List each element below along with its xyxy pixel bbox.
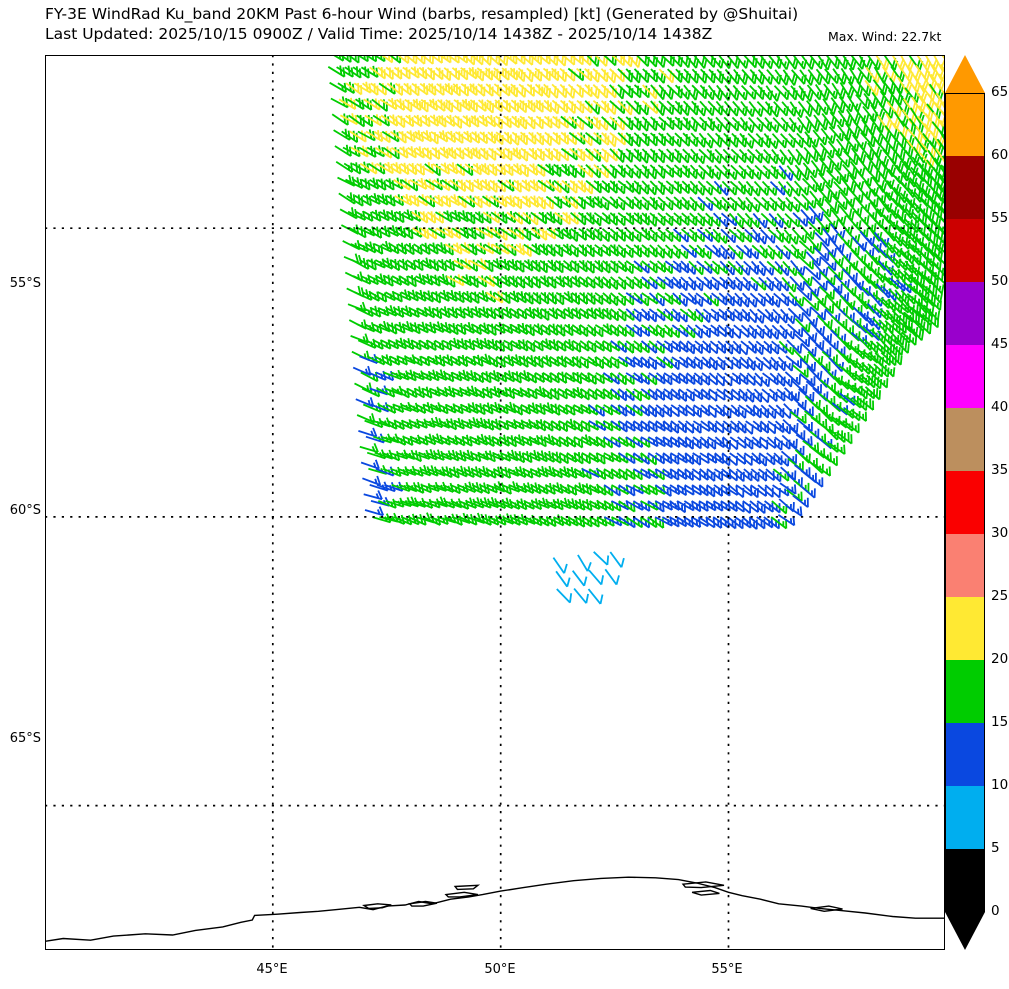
wind-barb: [594, 165, 609, 178]
colorbar-segment: [945, 282, 985, 345]
colorbar-segment: [945, 849, 985, 912]
map-svg: [45, 55, 945, 950]
wind-barb: [618, 69, 633, 82]
wind-barb: [708, 117, 722, 132]
plot-frame: [46, 56, 945, 950]
wind-barb: [691, 133, 705, 147]
wind-barb: [651, 149, 665, 163]
wind-barb: [683, 133, 698, 146]
wind-barb: [570, 165, 585, 178]
wind-barb: [689, 261, 703, 274]
colorbar-tick-label: 25: [991, 588, 1008, 604]
wind-barb: [682, 197, 696, 211]
wind-barb: [362, 476, 380, 485]
wind-barb: [626, 245, 641, 257]
wind-barb: [594, 117, 609, 131]
page-title: FY-3E WindRad Ku_band 20KM Past 6-hour W…: [45, 5, 798, 23]
wind-barb: [626, 69, 640, 83]
wind-barb: [594, 552, 609, 565]
wind-barb: [618, 165, 633, 178]
wind-barb: [714, 213, 728, 227]
colorbar-tick-label: 45: [991, 336, 1008, 352]
colorbar-under-arrow: [945, 912, 985, 950]
wind-barb: [736, 261, 750, 275]
wind-barb: [364, 491, 382, 500]
wind-barb: [771, 357, 786, 370]
wind-barb: [626, 133, 640, 147]
wind-barb: [626, 85, 641, 98]
colorbar-segment: [945, 723, 985, 786]
wind-barb: [355, 383, 372, 392]
wind-barb: [348, 302, 366, 311]
colorbar-segment: [945, 345, 985, 408]
wind-barb: [691, 165, 705, 179]
wind-barb-layer: [327, 55, 945, 604]
colorbar-segment: [945, 534, 985, 597]
wind-barb: [428, 68, 443, 80]
wind-barb: [724, 133, 738, 147]
wind-barb: [528, 116, 543, 128]
wind-barb: [793, 496, 808, 508]
wind-barb: [839, 406, 854, 418]
page-subtitle: Last Updated: 2025/10/15 0900Z / Valid T…: [45, 25, 712, 43]
wind-barb: [750, 309, 764, 323]
colorbar-tick-label: 5: [991, 840, 1000, 856]
wind-barb: [331, 96, 348, 107]
wind-barb: [560, 85, 574, 99]
wind-barb: [544, 84, 558, 98]
wind-barb: [650, 229, 665, 241]
wind-barb: [847, 383, 862, 395]
colorbar-tick-label: 10: [991, 777, 1008, 793]
wind-barb: [698, 213, 713, 226]
wind-barb: [700, 85, 714, 99]
xtick-label-50E: 50°E: [460, 962, 540, 977]
wind-barb: [603, 229, 618, 241]
wind-barb: [585, 101, 599, 115]
wind-barb: [586, 165, 601, 178]
wind-barb: [344, 254, 362, 265]
wind-barb: [723, 165, 737, 179]
colorbar-tick-label: 50: [991, 273, 1008, 289]
wind-barb: [339, 192, 355, 203]
colorbar-tick-label: 65: [991, 84, 1008, 100]
colorbar-tick-label: 40: [991, 399, 1008, 415]
wind-barb: [605, 569, 619, 584]
wind-barb: [651, 133, 666, 146]
colorbar-segment: [945, 156, 985, 219]
colorbar-tick-label: 55: [991, 210, 1008, 226]
wind-barb: [667, 149, 681, 163]
colorbar-segment: [945, 660, 985, 723]
wind-barb: [713, 229, 727, 243]
wind-barb: [682, 229, 697, 242]
coastal-island: [692, 891, 719, 896]
wind-barb: [770, 198, 785, 211]
wind-barb: [774, 277, 788, 291]
antarctic-coastline: [45, 877, 945, 941]
wind-barb: [626, 117, 641, 130]
wind-barb: [762, 198, 777, 211]
wind-barb: [700, 117, 715, 130]
wind-barb: [601, 69, 615, 83]
wind-barb: [557, 589, 571, 603]
ytick-label-60S: 60°S: [0, 503, 41, 518]
wind-barb: [643, 133, 658, 146]
wind-barb: [658, 245, 673, 258]
wind-barb: [496, 132, 511, 144]
wind-barb: [573, 571, 587, 586]
wind-barb: [714, 181, 728, 195]
wind-barb: [740, 134, 754, 149]
wind-barb: [765, 118, 779, 133]
wind-barb: [807, 475, 822, 487]
wind-barb: [446, 100, 461, 112]
wind-barb: [602, 165, 616, 179]
gridline-layer: [45, 55, 945, 950]
xtick-label-45E: 45°E: [232, 962, 312, 977]
wind-barb: [779, 182, 793, 197]
wind-barb: [740, 150, 754, 164]
wind-barb: [577, 69, 592, 81]
wind-barb: [769, 214, 783, 228]
wind-barb: [854, 224, 868, 238]
colorbar-segment: [945, 471, 985, 534]
wind-barb: [753, 229, 767, 244]
colorbar-segment: [945, 597, 985, 660]
wind-barb: [767, 277, 781, 290]
wind-barb: [690, 181, 704, 195]
wind-barb: [739, 166, 753, 179]
coastline-layer: [45, 877, 945, 941]
wind-barb: [589, 589, 603, 604]
wind-barb: [676, 85, 690, 99]
wind-barb: [743, 293, 757, 307]
wind-barb: [749, 325, 764, 338]
wind-barb: [735, 293, 749, 307]
wind-barb: [635, 85, 650, 98]
colorbar-tick-label: 20: [991, 651, 1008, 667]
wind-barb: [537, 132, 552, 145]
wind-barb: [676, 69, 690, 83]
wind-barb: [808, 461, 823, 474]
wind-barb: [826, 399, 841, 412]
wind-barb: [741, 118, 755, 133]
figure-canvas: FY-3E WindRad Ku_band 20KM Past 6-hour W…: [0, 0, 1009, 989]
wind-barb: [511, 84, 526, 97]
wind-barb: [502, 68, 517, 80]
wind-barb: [689, 277, 703, 291]
wind-barb: [666, 213, 681, 225]
wind-barb: [478, 84, 493, 96]
wind-barb: [537, 148, 552, 160]
wind-barb: [574, 589, 588, 604]
wind-barb: [784, 230, 798, 245]
wind-barb: [667, 117, 682, 130]
colorbar-segment: [945, 93, 985, 156]
wind-barb: [743, 277, 757, 291]
wind-barb: [824, 427, 839, 440]
wind-barb: [643, 85, 657, 99]
wind-barb: [396, 83, 411, 95]
wind-barb: [675, 101, 689, 115]
wind-barb: [594, 149, 609, 162]
wind-barb: [361, 460, 379, 469]
wind-barb: [691, 149, 705, 163]
max-wind-annotation: Max. Wind: 22.7kt: [828, 29, 941, 44]
wind-barb: [544, 68, 559, 80]
map-plot-area: [45, 55, 945, 950]
wind-barb: [837, 247, 851, 262]
coastal-island: [364, 904, 391, 909]
wind-barb: [642, 181, 656, 195]
wind-barb: [578, 165, 593, 178]
xtick-label-55E: 55°E: [687, 962, 767, 977]
wind-barb: [745, 213, 759, 227]
wind-barb: [779, 166, 793, 181]
wind-barb: [519, 68, 533, 82]
wind-barb: [747, 166, 761, 180]
wind-barb: [578, 555, 591, 571]
wind-barb: [778, 198, 792, 212]
wind-barb: [739, 181, 753, 195]
wind-barb: [538, 197, 553, 210]
wind-barb: [782, 278, 796, 292]
wind-barb: [358, 428, 376, 437]
wind-barb: [876, 284, 890, 298]
colorbar-segment: [945, 408, 985, 471]
colorbar-tick-label: 35: [991, 462, 1008, 478]
wind-barb: [683, 117, 697, 131]
wind-barb: [555, 212, 570, 224]
colorbar-segment: [945, 786, 985, 849]
wind-barb: [757, 325, 772, 338]
wind-barb: [673, 245, 688, 258]
wind-barb: [675, 117, 690, 130]
wind-barb: [707, 149, 721, 163]
wind-barb: [771, 166, 785, 180]
wind-barb: [332, 114, 348, 126]
wind-barb: [683, 165, 698, 178]
colorbar: 05101520253035404550556065: [945, 55, 985, 950]
wind-barb: [823, 440, 838, 452]
wind-barb: [667, 133, 681, 147]
colorbar-tick-label: 0: [991, 903, 1000, 919]
wind-barb: [360, 443, 378, 452]
ytick-label-55S: 55°S: [0, 276, 41, 291]
wind-barb: [642, 165, 656, 179]
wind-barb: [634, 101, 648, 115]
wind-barb: [752, 261, 766, 275]
wind-barb: [610, 552, 624, 567]
wind-barb: [707, 165, 721, 179]
wind-barb: [659, 133, 674, 146]
wind-barb: [738, 197, 752, 211]
wind-barb: [610, 85, 624, 99]
colorbar-tick-label: 15: [991, 714, 1008, 730]
wind-barb: [651, 69, 665, 83]
wind-barb: [556, 571, 570, 586]
wind-barb: [776, 246, 790, 260]
wind-barb: [822, 454, 837, 466]
wind-barb: [634, 117, 648, 131]
wind-barb: [626, 165, 640, 178]
wind-barb: [553, 558, 567, 574]
wind-barb: [756, 150, 770, 164]
ytick-label-65S: 65°S: [0, 731, 41, 746]
wind-barb: [610, 117, 625, 130]
wind-barb: [577, 101, 592, 113]
wind-barb: [706, 213, 721, 226]
wind-barb: [777, 230, 791, 244]
colorbar-tick-label: 30: [991, 525, 1008, 541]
wind-barb: [520, 116, 535, 129]
wind-barb: [858, 336, 872, 350]
wind-barb: [634, 149, 648, 163]
wind-barb: [365, 507, 383, 516]
colorbar-segment: [945, 219, 985, 282]
wind-barb: [386, 67, 401, 79]
wind-barb: [589, 570, 603, 584]
wind-barb: [846, 229, 860, 244]
colorbar-over-arrow: [945, 55, 985, 93]
wind-barb: [775, 86, 789, 100]
coastal-island: [455, 885, 478, 889]
wind-barb: [756, 134, 770, 148]
colorbar-tick-label: 60: [991, 147, 1008, 163]
wind-barb: [618, 101, 632, 115]
wind-barb: [666, 245, 681, 258]
